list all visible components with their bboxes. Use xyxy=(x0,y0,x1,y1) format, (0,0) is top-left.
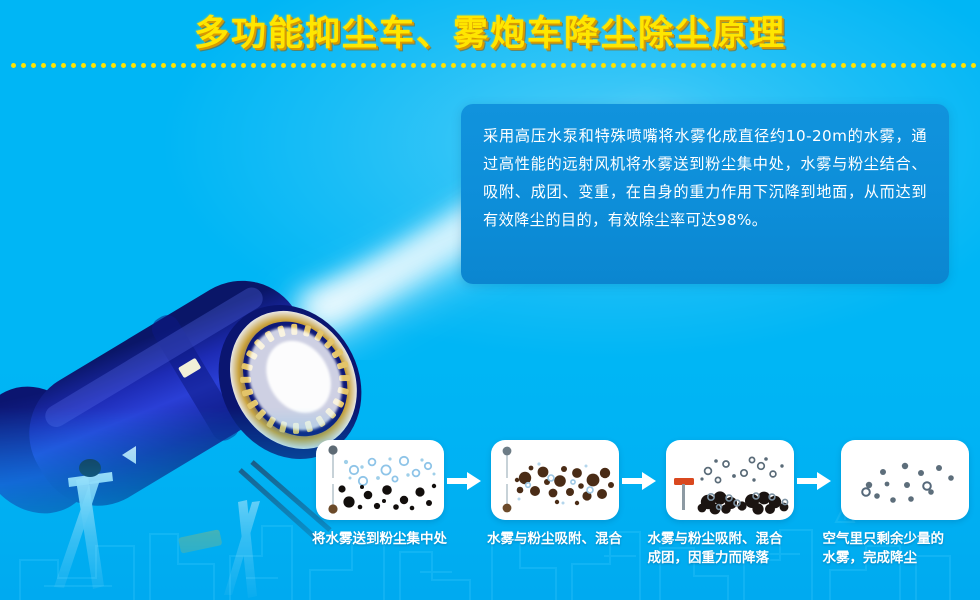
divider-dot xyxy=(761,63,766,68)
divider-dot xyxy=(891,63,896,68)
divider-dot xyxy=(921,63,926,68)
water-mist-to-dust-icon xyxy=(316,440,444,520)
process-steps: 将水雾送到粉尘集中处 xyxy=(0,440,980,600)
process-step-1-caption: 将水雾送到粉尘集中处 xyxy=(294,530,466,549)
divider-dot xyxy=(401,63,406,68)
divider-dot xyxy=(661,63,666,68)
divider-dot xyxy=(651,63,656,68)
divider-dot xyxy=(431,63,436,68)
divider-dot xyxy=(951,63,956,68)
divider-dot xyxy=(201,63,206,68)
divider-dot xyxy=(341,63,346,68)
divider-dot xyxy=(161,63,166,68)
divider-dot xyxy=(911,63,916,68)
divider-dot xyxy=(931,63,936,68)
dotted-divider xyxy=(0,60,980,70)
divider-dot xyxy=(251,63,256,68)
divider-dot xyxy=(311,63,316,68)
divider-dot xyxy=(971,63,976,68)
divider-dot xyxy=(191,63,196,68)
divider-dot xyxy=(831,63,836,68)
divider-dot xyxy=(531,63,536,68)
poster-root: 多功能抑尘车、雾炮车降尘除尘原理 采用高压水泵和特殊喷嘴将水雾化成直径约10-2… xyxy=(0,0,980,600)
divider-dot xyxy=(521,63,526,68)
divider-dot xyxy=(141,63,146,68)
divider-dot xyxy=(441,63,446,68)
divider-dot xyxy=(11,63,16,68)
divider-dot xyxy=(231,63,236,68)
divider-dot xyxy=(841,63,846,68)
divider-dot xyxy=(631,63,636,68)
divider-dot xyxy=(241,63,246,68)
divider-dot xyxy=(261,63,266,68)
divider-dot xyxy=(641,63,646,68)
divider-dot xyxy=(61,63,66,68)
caption-line: 将水雾送到粉尘集中处 xyxy=(294,530,466,549)
divider-dot xyxy=(871,63,876,68)
divider-dot xyxy=(221,63,226,68)
divider-dot xyxy=(281,63,286,68)
divider-dot xyxy=(451,63,456,68)
caption-line: 水雾，完成降尘 xyxy=(823,549,980,568)
divider-dot xyxy=(511,63,516,68)
process-step-4-caption: 空气里只剩余少量的 水雾，完成降尘 xyxy=(819,530,980,568)
divider-dot xyxy=(331,63,336,68)
clump-fall-by-gravity-icon xyxy=(666,440,794,520)
divider-dot xyxy=(591,63,596,68)
process-step-2[interactable]: 水雾与粉尘吸附、混合 xyxy=(467,440,642,549)
divider-dot xyxy=(681,63,686,68)
divider-dot xyxy=(351,63,356,68)
divider-dot xyxy=(601,63,606,68)
divider-dot xyxy=(391,63,396,68)
divider-dot xyxy=(181,63,186,68)
divider-dot xyxy=(371,63,376,68)
process-step-3[interactable]: 水雾与粉尘吸附、混合 成团，因重力而降落 xyxy=(642,440,817,568)
divider-dot xyxy=(571,63,576,68)
divider-dot xyxy=(611,63,616,68)
divider-dot xyxy=(151,63,156,68)
divider-dot xyxy=(551,63,556,68)
divider-dot xyxy=(901,63,906,68)
divider-dot xyxy=(771,63,776,68)
divider-dot xyxy=(91,63,96,68)
divider-dot xyxy=(941,63,946,68)
divider-dot xyxy=(271,63,276,68)
divider-dot xyxy=(41,63,46,68)
divider-dot xyxy=(501,63,506,68)
divider-dot xyxy=(581,63,586,68)
process-step-2-caption: 水雾与粉尘吸附、混合 xyxy=(469,530,641,549)
divider-dot xyxy=(361,63,366,68)
divider-dot xyxy=(791,63,796,68)
caption-line: 水雾与粉尘吸附、混合 xyxy=(648,530,816,549)
divider-dot xyxy=(621,63,626,68)
page-title: 多功能抑尘车、雾炮车降尘除尘原理 xyxy=(194,5,786,56)
divider-dot xyxy=(851,63,856,68)
divider-dot xyxy=(561,63,566,68)
caption-line: 空气里只剩余少量的 xyxy=(823,530,980,549)
divider-dot xyxy=(711,63,716,68)
caption-line: 成团，因重力而降落 xyxy=(648,549,816,568)
arrow-right-icon xyxy=(797,472,831,490)
divider-dot xyxy=(301,63,306,68)
divider-dot xyxy=(31,63,36,68)
divider-dot xyxy=(751,63,756,68)
arrow-right-icon xyxy=(447,472,481,490)
divider-dot xyxy=(461,63,466,68)
divider-dot xyxy=(731,63,736,68)
divider-dot xyxy=(71,63,76,68)
divider-dot xyxy=(671,63,676,68)
divider-dot xyxy=(381,63,386,68)
process-step-4[interactable]: 空气里只剩余少量的 水雾，完成降尘 xyxy=(817,440,980,568)
divider-dot xyxy=(691,63,696,68)
description-panel: 采用高压水泵和特殊喷嘴将水雾化成直径约10-20m的水雾，通过高性能的远射风机将… xyxy=(461,104,949,284)
mist-dust-adsorb-mix-icon xyxy=(491,440,619,520)
divider-dot xyxy=(211,63,216,68)
divider-dot xyxy=(541,63,546,68)
divider-dot xyxy=(741,63,746,68)
divider-dot xyxy=(421,63,426,68)
divider-dot xyxy=(491,63,496,68)
divider-dot xyxy=(321,63,326,68)
divider-dot xyxy=(961,63,966,68)
divider-dot xyxy=(801,63,806,68)
divider-dot xyxy=(121,63,126,68)
divider-dot xyxy=(781,63,786,68)
process-step-3-caption: 水雾与粉尘吸附、混合 成团，因重力而降落 xyxy=(644,530,816,568)
residual-mist-in-air-icon xyxy=(841,440,969,520)
description-text: 采用高压水泵和特殊喷嘴将水雾化成直径约10-20m的水雾，通过高性能的远射风机将… xyxy=(483,122,927,234)
divider-dot xyxy=(171,63,176,68)
divider-dot xyxy=(471,63,476,68)
divider-dot xyxy=(411,63,416,68)
divider-dot xyxy=(81,63,86,68)
divider-dot xyxy=(821,63,826,68)
divider-dot xyxy=(101,63,106,68)
divider-dot xyxy=(701,63,706,68)
divider-dot xyxy=(21,63,26,68)
divider-dot xyxy=(51,63,56,68)
caption-line: 水雾与粉尘吸附、混合 xyxy=(469,530,641,549)
arrow-right-icon xyxy=(622,472,656,490)
divider-dot xyxy=(861,63,866,68)
divider-dot xyxy=(131,63,136,68)
divider-dot xyxy=(111,63,116,68)
divider-dot xyxy=(811,63,816,68)
divider-dot xyxy=(721,63,726,68)
page-title-wrap: 多功能抑尘车、雾炮车降尘除尘原理 xyxy=(0,4,980,56)
divider-dot xyxy=(881,63,886,68)
process-step-1[interactable]: 将水雾送到粉尘集中处 xyxy=(292,440,467,549)
divider-dot xyxy=(291,63,296,68)
divider-dot xyxy=(481,63,486,68)
